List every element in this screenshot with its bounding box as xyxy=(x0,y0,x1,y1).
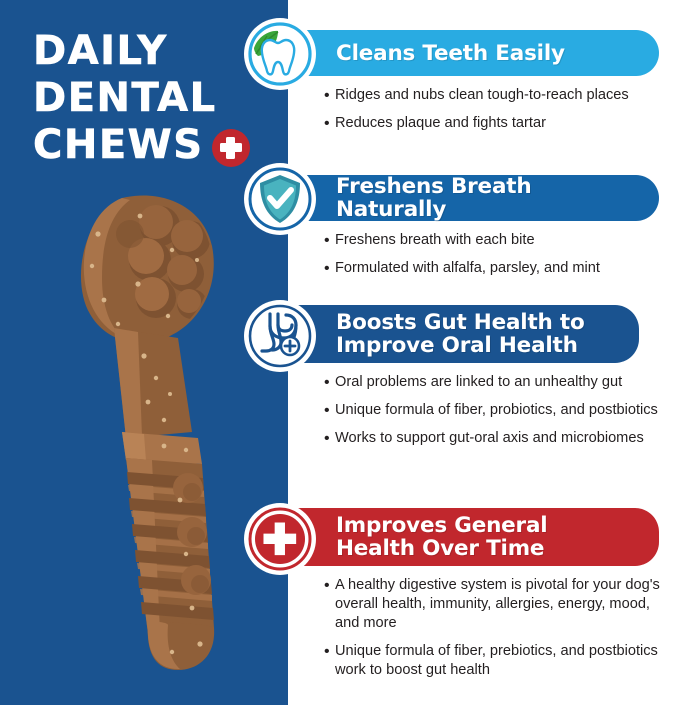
features-column: Cleans Teeth Easily • Ridges and nubs cl… xyxy=(288,0,679,705)
tooth-mint-leaf-icon xyxy=(244,18,316,90)
bullet-dot: • xyxy=(324,642,335,680)
feature-title: Cleans Teeth Easily xyxy=(336,42,565,65)
dental-chews-infographic: DAILY DENTAL CHEWS xyxy=(0,0,679,705)
feature-bullets: • A healthy digestive system is pivotal … xyxy=(324,576,674,689)
feature-banner: Boosts Gut Health to Improve Oral Health xyxy=(286,305,639,363)
bullet-dot: • xyxy=(324,114,335,133)
page-title: DAILY DENTAL CHEWS xyxy=(33,28,263,169)
bullet-dot: • xyxy=(324,576,335,633)
list-item: • Freshens breath with each bite xyxy=(324,231,674,250)
title-line-1: DAILY xyxy=(33,28,263,75)
bullet-dot: • xyxy=(324,429,335,448)
shield-check-icon xyxy=(244,163,316,235)
feature-bullets: • Freshens breath with each bite • Formu… xyxy=(324,231,674,287)
bullet-dot: • xyxy=(324,373,335,392)
feature-banner: Cleans Teeth Easily xyxy=(286,30,659,76)
list-item: • Unique formula of fiber, prebiotics, a… xyxy=(324,642,674,680)
stomach-plus-icon xyxy=(244,300,316,372)
list-item: • Unique formula of fiber, probiotics, a… xyxy=(324,401,674,420)
medical-cross-circle-icon xyxy=(244,503,316,575)
bullet-dot: • xyxy=(324,231,335,250)
title-line-2: DENTAL xyxy=(33,75,263,122)
feature-title: Improves General Health Over Time xyxy=(336,514,547,560)
dog-dental-chew-illustration xyxy=(52,188,257,688)
list-item: • Reduces plaque and fights tartar xyxy=(324,114,674,133)
medical-cross-icon xyxy=(212,129,250,167)
feature-title: Boosts Gut Health to Improve Oral Health xyxy=(336,311,585,357)
feature-banner: Improves General Health Over Time xyxy=(286,508,659,566)
list-item: • Ridges and nubs clean tough-to-reach p… xyxy=(324,86,674,105)
bullet-dot: • xyxy=(324,86,335,105)
bullet-dot: • xyxy=(324,259,335,278)
left-brand-panel: DAILY DENTAL CHEWS xyxy=(0,0,288,705)
bullet-dot: • xyxy=(324,401,335,420)
feature-banner: Freshens Breath Naturally xyxy=(286,175,659,221)
feature-bullets: • Oral problems are linked to an unhealt… xyxy=(324,373,674,457)
feature-title: Freshens Breath Naturally xyxy=(336,175,641,221)
list-item: • Oral problems are linked to an unhealt… xyxy=(324,373,674,392)
feature-bullets: • Ridges and nubs clean tough-to-reach p… xyxy=(324,86,674,142)
list-item: • A healthy digestive system is pivotal … xyxy=(324,576,674,633)
list-item: • Works to support gut-oral axis and mic… xyxy=(324,429,674,448)
title-line-3: CHEWS xyxy=(33,122,204,169)
list-item: • Formulated with alfalfa, parsley, and … xyxy=(324,259,674,278)
